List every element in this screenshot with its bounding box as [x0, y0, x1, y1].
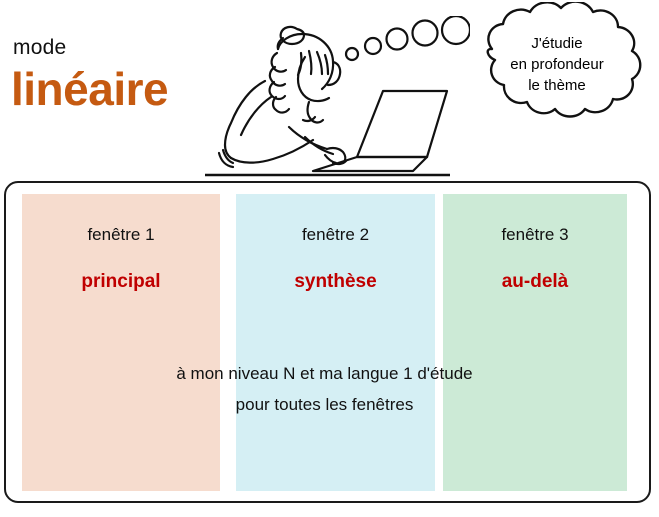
cloud-text-line-1: J'étudie — [487, 33, 627, 54]
window-column-3-label: fenêtre 3 — [443, 224, 627, 245]
window-column-2-name: synthèse — [236, 270, 435, 293]
window-column-2[interactable]: fenêtre 2 synthèse — [236, 194, 435, 491]
mode-label: mode — [13, 36, 66, 60]
window-column-1-name: principal — [22, 270, 220, 293]
window-column-3-name: au-delà — [443, 270, 627, 293]
cloud-text-line-2: en profondeur — [487, 54, 627, 75]
window-column-1[interactable]: fenêtre 1 principal — [22, 194, 220, 491]
cloud-text-line-3: le thème — [487, 75, 627, 96]
thought-bubbles-icon — [340, 16, 470, 71]
thought-cloud-text: J'étudie en profondeur le thème — [487, 33, 627, 96]
window-column-3[interactable]: fenêtre 3 au-delà — [443, 194, 627, 491]
window-column-2-label: fenêtre 2 — [236, 224, 435, 245]
page-title: linéaire — [11, 63, 168, 115]
window-column-1-label: fenêtre 1 — [22, 224, 220, 245]
windows-columns: fenêtre 1 principal fenêtre 2 synthèse f… — [22, 194, 627, 491]
header: mode linéaire — [0, 0, 659, 180]
